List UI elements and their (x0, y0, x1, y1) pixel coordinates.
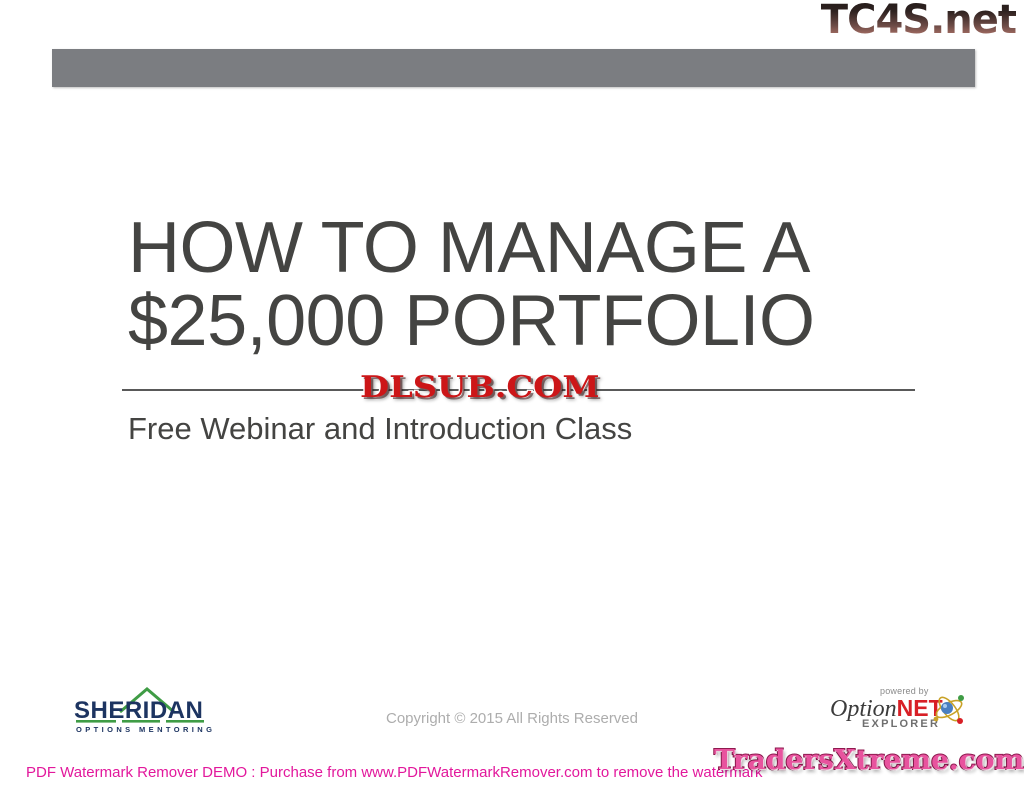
tc4s-watermark: TC4S.net (821, 0, 1016, 42)
slide-subtitle: Free Webinar and Introduction Class (128, 411, 632, 447)
svg-text:SHERIDAN: SHERIDAN (74, 697, 203, 724)
sheridan-logo: SHERIDAN OPTIONS MENTORING (62, 682, 217, 734)
header-banner-bar (52, 49, 975, 87)
dlsub-watermark: DLSUB.COM (360, 372, 600, 404)
pdf-watermark-message: PDF Watermark Remover DEMO : Purchase fr… (26, 764, 763, 781)
tradersxtreme-watermark: TradersXtreme.com (714, 746, 1024, 776)
sheridan-logo-graphic: SHERIDAN OPTIONS MENTORING (62, 682, 217, 734)
atom-icon (932, 692, 966, 726)
title-line-1: HOW TO MANAGE A (128, 212, 928, 285)
svg-text:OPTIONS MENTORING: OPTIONS MENTORING (76, 725, 215, 734)
title-line-2: $25,000 PORTFOLIO (128, 285, 928, 358)
presentation-slide: TC4S.net HOW TO MANAGE A $25,000 PORTFOL… (0, 0, 1024, 791)
slide-title: HOW TO MANAGE A $25,000 PORTFOLIO (128, 212, 928, 358)
optionnet-explorer-text: EXPLORER (862, 718, 940, 730)
optionnet-explorer-logo: powered by OptionNET EXPLORER (828, 686, 968, 732)
